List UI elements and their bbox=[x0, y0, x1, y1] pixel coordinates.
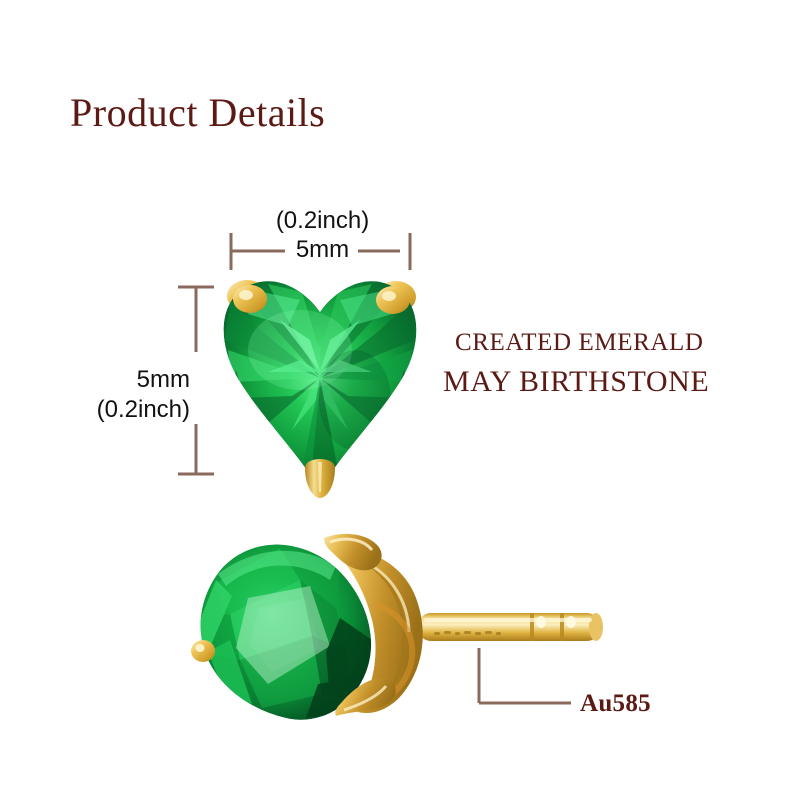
earring-post-icon bbox=[418, 613, 603, 641]
product-details-page: Product Details (0.2inch) 5mm 5mm (0.2in… bbox=[0, 0, 800, 800]
material-callout-label: Au585 bbox=[580, 690, 651, 718]
heart-gemstone-side-icon bbox=[0, 0, 800, 800]
